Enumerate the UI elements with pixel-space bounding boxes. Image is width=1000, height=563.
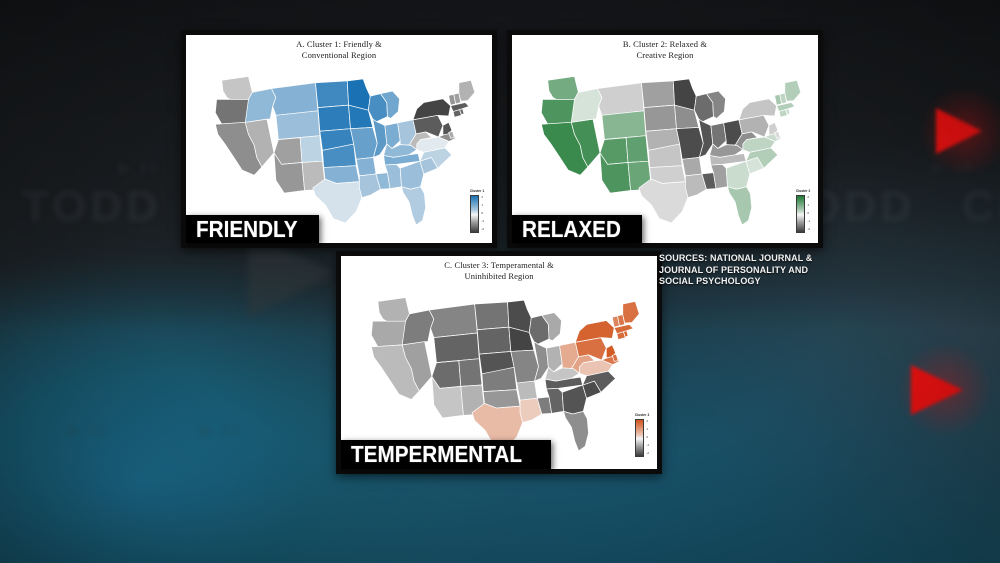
panel-cluster3-legend: Cluster 3 210-1-2 <box>635 419 649 457</box>
chip-tempermental: TEMPERMENTAL <box>341 440 551 469</box>
panel-cluster3-title: C. Cluster 3: Temperamental & Uninhibite… <box>341 260 657 281</box>
state-WA <box>548 76 579 101</box>
state-MT <box>271 83 318 116</box>
state-ME <box>459 80 475 101</box>
panel-cluster1-legend: Cluster 1 210-1-2 <box>470 195 484 233</box>
legend-tick: 0 <box>646 435 649 439</box>
legend-tick: -1 <box>807 219 810 223</box>
state-GA <box>562 385 586 414</box>
state-NY <box>575 321 614 343</box>
state-ME <box>623 301 639 323</box>
legend-tick: 0 <box>807 211 810 215</box>
legend-tick: -2 <box>481 227 484 231</box>
legend-colorbar <box>470 195 479 233</box>
state-WY <box>602 111 646 140</box>
legend-label: Cluster 2 <box>796 189 811 193</box>
panel-cluster2-title: B. Cluster 2: Relaxed & Creative Region <box>512 39 818 60</box>
legend-colorbar <box>635 419 644 457</box>
panel-cluster2[interactable]: B. Cluster 2: Relaxed & Creative Region … <box>507 30 823 248</box>
state-AR <box>682 157 702 175</box>
legend-tick: 1 <box>646 427 649 431</box>
state-ND <box>315 81 348 108</box>
legend-ticks: 210-1-2 <box>806 195 810 231</box>
state-WY <box>434 333 479 363</box>
panel-cluster2-legend: Cluster 2 210-1-2 <box>796 195 810 233</box>
state-MT <box>429 304 477 338</box>
state-WA <box>378 297 410 323</box>
state-TX <box>639 179 688 223</box>
panel-cluster1[interactable]: A. Cluster 1: Friendly & Conventional Re… <box>181 30 497 248</box>
legend-tick: 2 <box>481 195 484 199</box>
state-AR <box>517 381 537 400</box>
chip-friendly: FRIENDLY <box>186 215 319 243</box>
legend-tick: 1 <box>807 203 810 207</box>
legend-tick: 0 <box>481 211 484 215</box>
legend-label: Cluster 3 <box>635 413 650 417</box>
state-GA <box>400 161 424 189</box>
legend-label: Cluster 1 <box>470 189 485 193</box>
legend-tick: -2 <box>646 451 649 455</box>
legend-ticks: 210-1-2 <box>645 419 649 455</box>
state-NY <box>413 99 451 120</box>
state-WA <box>222 76 253 101</box>
broadcast-graphic: TODD ODD CH 15 19 11 13 <box>0 0 1000 563</box>
legend-tick: 2 <box>807 195 810 199</box>
state-WY <box>276 111 320 140</box>
state-SD <box>644 105 677 131</box>
state-ME <box>785 80 801 101</box>
state-ND <box>475 302 509 330</box>
legend-tick: -1 <box>646 443 649 447</box>
state-TX <box>313 179 362 223</box>
panel-cluster3[interactable]: C. Cluster 3: Temperamental & Uninhibite… <box>336 251 662 474</box>
legend-tick: 2 <box>646 419 649 423</box>
legend-tick: -1 <box>481 219 484 223</box>
state-ND <box>641 81 674 108</box>
state-NY <box>739 99 777 120</box>
panel-cluster1-title: A. Cluster 1: Friendly & Conventional Re… <box>186 39 492 60</box>
legend-ticks: 210-1-2 <box>480 195 484 231</box>
legend-tick: 1 <box>481 203 484 207</box>
state-SD <box>477 327 511 354</box>
legend-tick: -2 <box>807 227 810 231</box>
state-FL <box>564 411 589 451</box>
legend-colorbar <box>796 195 805 233</box>
state-AR <box>356 157 376 175</box>
state-FL <box>727 187 751 225</box>
state-SD <box>318 105 351 131</box>
sources-text: SOURCES: NATIONAL JOURNAL & JOURNAL OF P… <box>659 253 812 288</box>
state-MT <box>597 83 644 116</box>
chip-relaxed: RELAXED <box>512 215 642 243</box>
state-GA <box>726 161 750 189</box>
state-FL <box>401 187 425 225</box>
